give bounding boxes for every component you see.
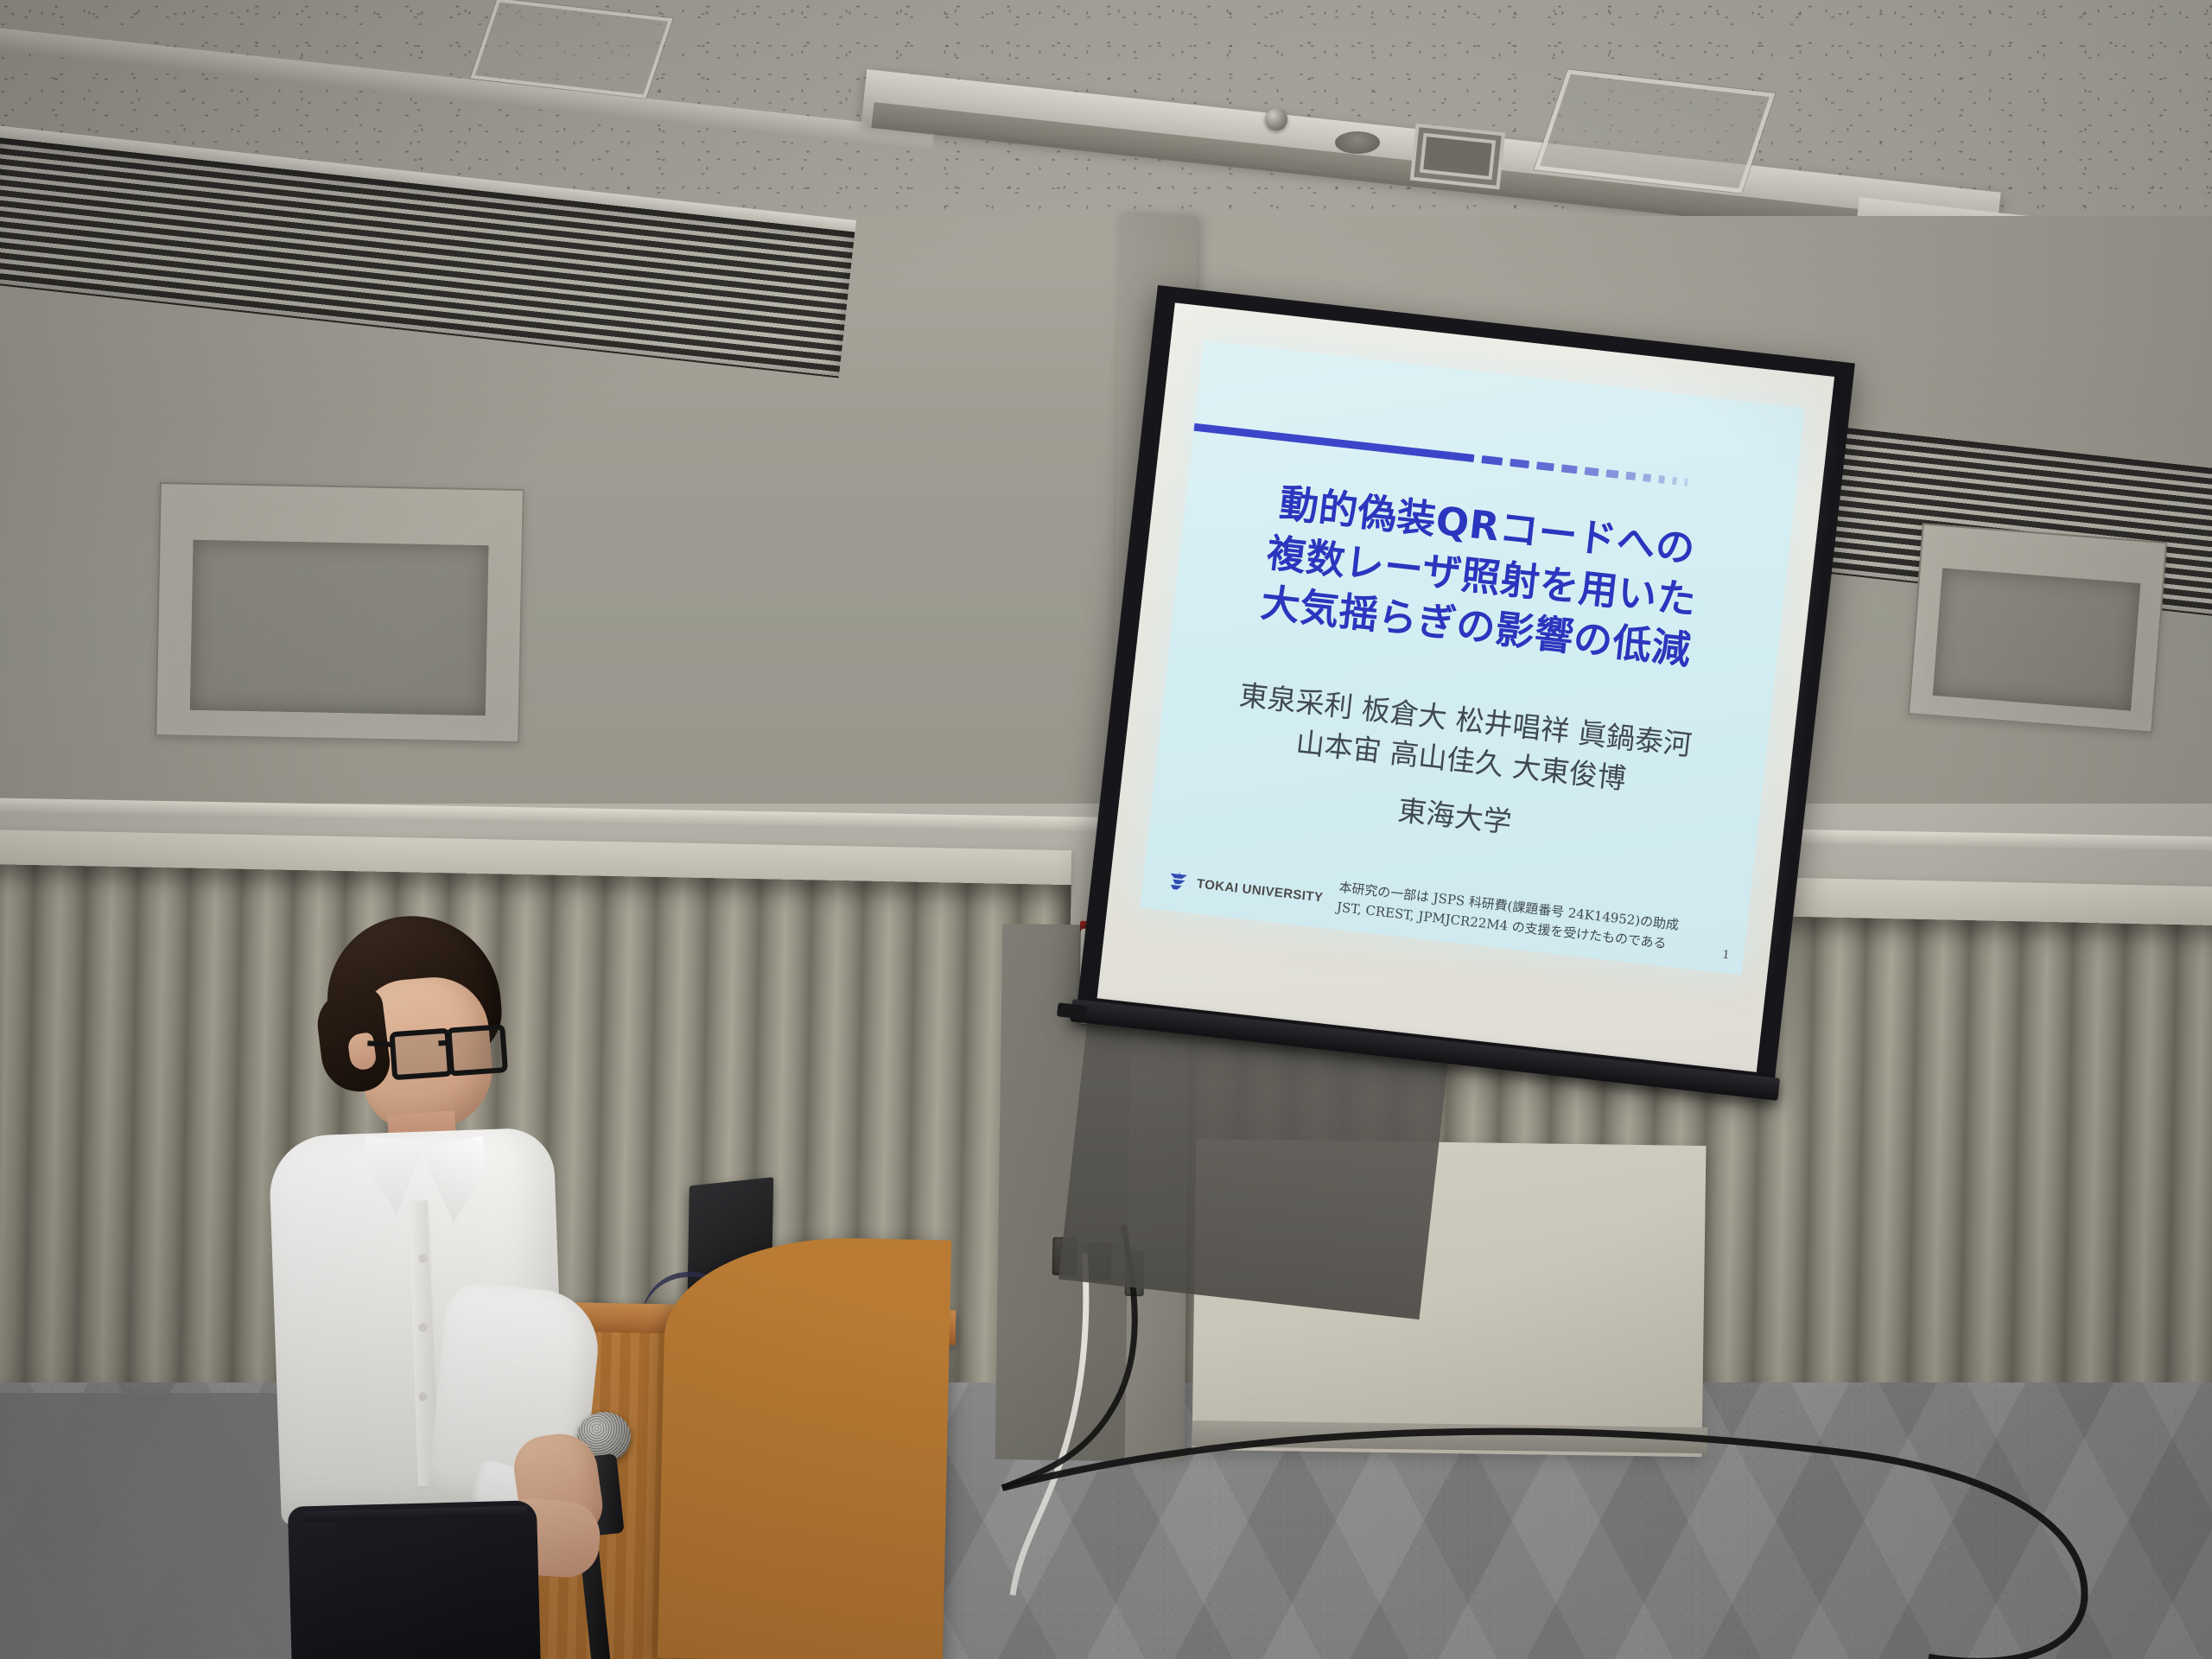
- screen-surface: 動的偽装QRコードへの 複数レーザ照射を用いた 大気揺らぎの影響の低減 東泉采利…: [1097, 302, 1835, 1072]
- slide-rule-dash: [1510, 459, 1529, 468]
- glasses-bridge: [438, 1040, 450, 1046]
- screen-frame: 動的偽装QRコードへの 複数レーザ照射を用いた 大気揺らぎの影響の低減 東泉采利…: [1076, 285, 1855, 1093]
- slide-rule-solid: [1193, 423, 1452, 460]
- slide-rule-dash: [1672, 477, 1677, 486]
- tokai-logo-mark-icon: [1166, 869, 1192, 894]
- shirt-button-2: [419, 1324, 427, 1332]
- slide-rule-dash: [1481, 455, 1503, 466]
- wall-panel-inner-right: [1933, 568, 2140, 710]
- slide-rule-dashes: [1452, 452, 1736, 492]
- slide-rule-dash: [1536, 461, 1554, 471]
- presenter-trousers: [288, 1500, 542, 1659]
- tokai-university-logo: TOKAI UNIVERSITY: [1166, 869, 1325, 909]
- projected-slide: 動的偽装QRコードへの 複数レーザ照射を用いた 大気揺らぎの影響の低減 東泉采利…: [1141, 340, 1805, 975]
- recessed-wall-panel-left: [155, 482, 524, 743]
- slide-page-number: 1: [1722, 949, 1731, 963]
- slide-rule-dash: [1684, 478, 1688, 486]
- glasses-icon: [389, 1025, 500, 1076]
- screen-backdrop-gap: [1058, 1021, 1448, 1319]
- slide-rule-dash: [1585, 467, 1599, 476]
- tokai-logo-text: TOKAI UNIVERSITY: [1196, 876, 1324, 905]
- shirt-button-3: [419, 1393, 427, 1401]
- glasses-lens-left: [389, 1028, 453, 1081]
- projection-screen: 動的偽装QRコードへの 複数レーザ照射を用いた 大気揺らぎの影響の低減 東泉采利…: [1071, 285, 1855, 1136]
- slide-rule-dash: [1452, 452, 1475, 462]
- slide-rule-dash: [1561, 464, 1578, 474]
- slide-rule-dash: [1605, 469, 1618, 479]
- ceiling-speaker-icon: [1410, 124, 1505, 190]
- slide-title: 動的偽装QRコードへの 複数レーザ照射を用いた 大気揺らぎの影響の低減: [1173, 467, 1790, 685]
- wall-panel-inner-left: [189, 540, 489, 716]
- slide-rule-dash: [1658, 475, 1665, 484]
- sprinkler-head-icon: [1265, 108, 1287, 130]
- slide-rule-dash: [1643, 474, 1651, 482]
- presenter: [259, 916, 631, 1659]
- podium-front-panel: [658, 1235, 951, 1659]
- ceiling-recessed-hole: [1335, 131, 1380, 154]
- glasses-lens-right: [446, 1024, 508, 1077]
- slide-acknowledgement: 本研究の一部は JSPS 科研費(課題番号 24K14952)の助成 JST, …: [1336, 878, 1718, 959]
- presentation-room-photo: 動的偽装QRコードへの 複数レーザ照射を用いた 大気揺らぎの影響の低減 東泉采利…: [0, 0, 2212, 1659]
- slide-rule-dash: [1625, 472, 1636, 480]
- shirt-button-1: [419, 1255, 427, 1262]
- recessed-wall-panel-right: [1908, 523, 2167, 733]
